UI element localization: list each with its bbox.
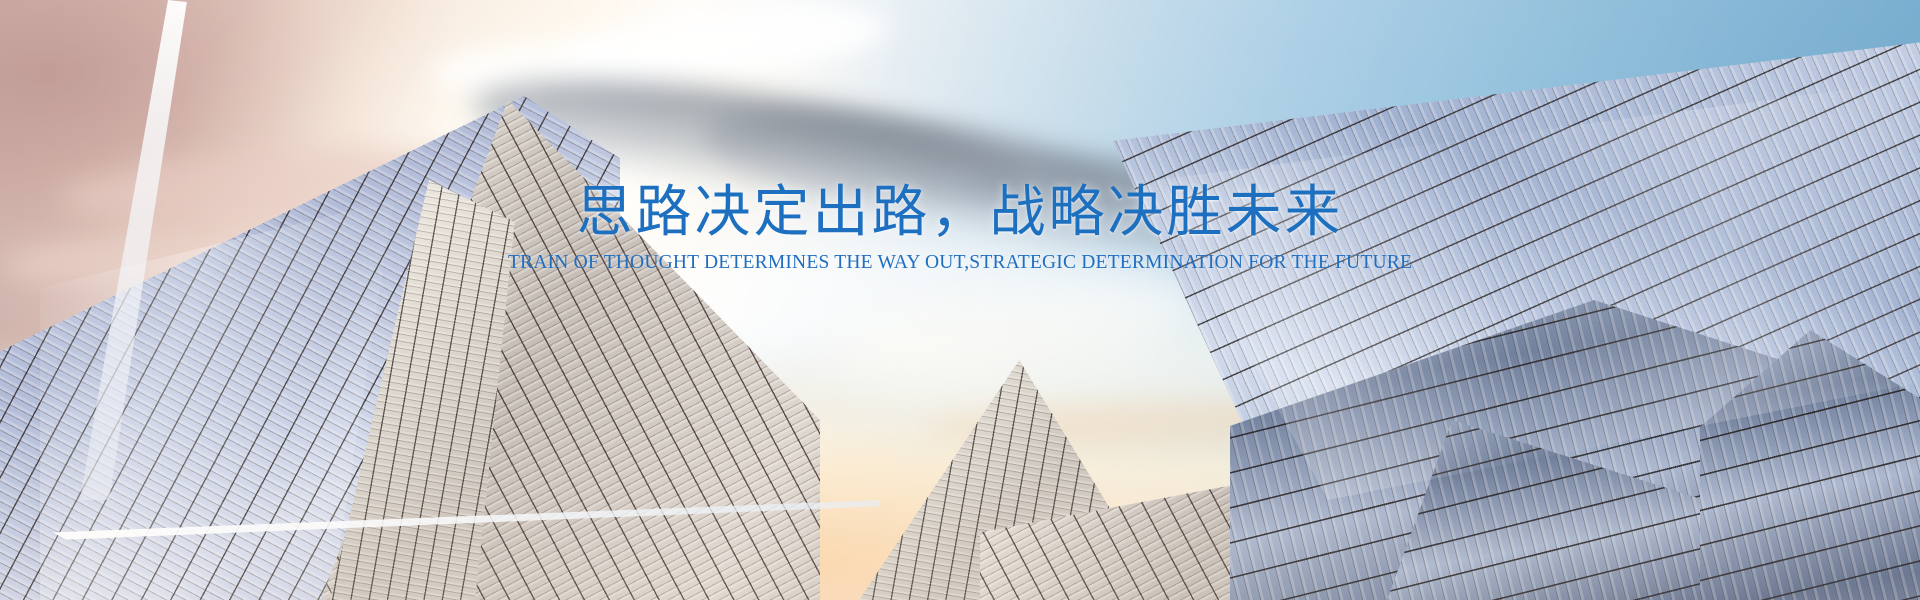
hero-banner: 思路决定出路，战略决胜未来 TRAIN OF THOUGHT DETERMINE…	[0, 0, 1920, 600]
banner-subtitle: TRAIN OF THOUGHT DETERMINES THE WAY OUT,…	[0, 252, 1920, 274]
banner-headline: 思路决定出路，战略决胜未来	[0, 183, 1920, 243]
banner-text-block: 思路决定出路，战略决胜未来 TRAIN OF THOUGHT DETERMINE…	[0, 183, 1920, 274]
